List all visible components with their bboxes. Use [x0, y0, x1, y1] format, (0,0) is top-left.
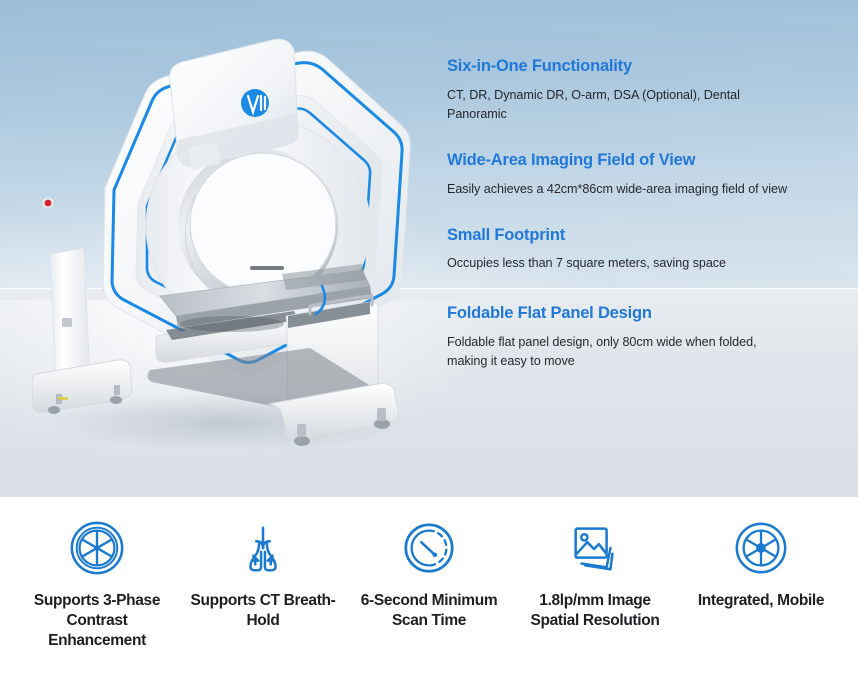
feature-six-in-one-functionality: Six-in-One Functionality CT, DR, Dynamic…: [447, 56, 847, 124]
emergency-stop-button: [43, 198, 54, 209]
highlight-label: 1.8lp/mm Image Spatial Resolution: [516, 591, 674, 631]
ct-scanner-illustration: [10, 18, 430, 468]
feature-list: Six-in-One Functionality CT, DR, Dynamic…: [447, 56, 847, 371]
highlight-bar: Supports 3-Phase Contrast Enhancement: [0, 497, 858, 685]
feature-title: Wide-Area Imaging Field of View: [447, 150, 847, 171]
wheel-icon: [732, 519, 790, 577]
feature-wide-area-imaging-field-of-view: Wide-Area Imaging Field of View Easily a…: [447, 150, 847, 199]
feature-body: CT, DR, Dynamic DR, O-arm, DSA (Optional…: [447, 86, 797, 124]
highlight-ct-breath-hold: Supports CT Breath-Hold: [180, 519, 346, 631]
feature-title: Foldable Flat Panel Design: [447, 303, 847, 324]
product-feature-page: Six-in-One Functionality CT, DR, Dynamic…: [0, 0, 858, 685]
feature-title: Small Footprint: [447, 225, 847, 246]
feature-body: Easily achieves a 42cm*86cm wide-area im…: [447, 180, 797, 199]
highlight-three-phase-contrast: Supports 3-Phase Contrast Enhancement: [14, 519, 180, 651]
highlight-label: Supports CT Breath-Hold: [184, 591, 342, 631]
highlight-label: Supports 3-Phase Contrast Enhancement: [18, 591, 176, 651]
images-icon: [566, 519, 624, 577]
product-logo: [241, 89, 269, 117]
hero-section: Six-in-One Functionality CT, DR, Dynamic…: [0, 0, 858, 497]
feature-body: Foldable flat panel design, only 80cm wi…: [447, 333, 797, 371]
highlight-label: Integrated, Mobile: [698, 591, 824, 611]
highlight-six-second-scan: 6-Second Minimum Scan Time: [346, 519, 512, 631]
highlight-spatial-resolution: 1.8lp/mm Image Spatial Resolution: [512, 519, 678, 631]
lungs-icon: [234, 519, 292, 577]
feature-title: Six-in-One Functionality: [447, 56, 847, 77]
feature-foldable-flat-panel-design: Foldable Flat Panel Design Foldable flat…: [447, 303, 847, 371]
feature-small-footprint: Small Footprint Occupies less than 7 squ…: [447, 225, 847, 274]
feature-body: Occupies less than 7 square meters, savi…: [447, 254, 797, 273]
stopwatch-icon: [400, 519, 458, 577]
highlight-label: 6-Second Minimum Scan Time: [350, 591, 508, 631]
aperture-icon: [68, 519, 126, 577]
highlight-integrated-mobile: Integrated, Mobile: [678, 519, 844, 611]
